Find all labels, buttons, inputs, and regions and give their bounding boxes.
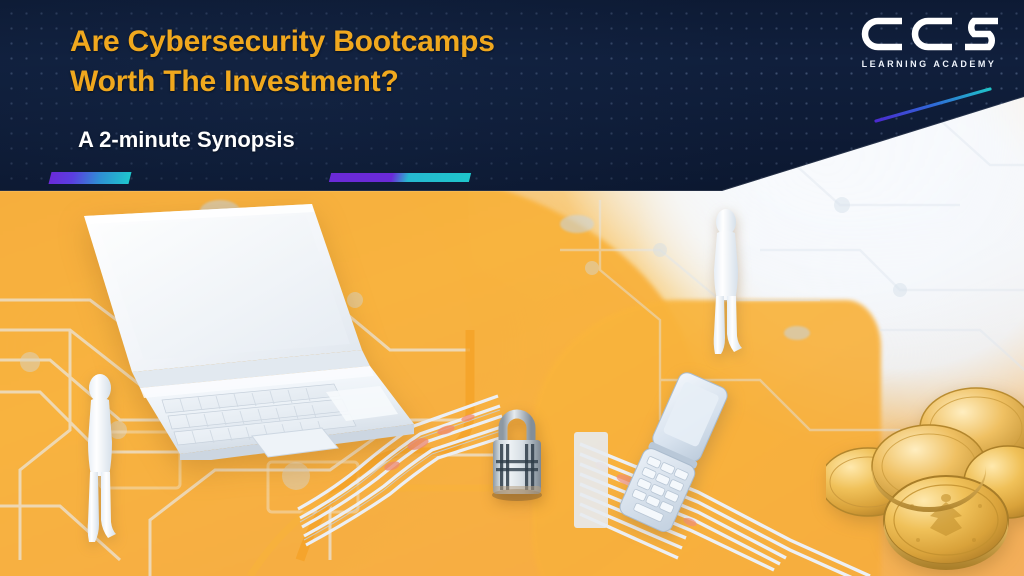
padlock-icon: [487, 400, 547, 502]
ccs-logo-tagline: LEARNING ACADEMY: [856, 59, 1002, 69]
figurine-right: [702, 208, 748, 358]
ccs-logo[interactable]: LEARNING ACADEMY: [856, 12, 1002, 69]
page-title: Are Cybersecurity Bootcamps Worth The In…: [70, 22, 710, 102]
ccs-logo-mark: [856, 12, 1002, 56]
page-subtitle: A 2-minute Synopsis: [78, 126, 295, 154]
infographic-banner: Are Cybersecurity Bootcamps Worth The In…: [0, 0, 1024, 576]
title-line-1: Are Cybersecurity Bootcamps: [70, 25, 495, 58]
gold-coins: [826, 370, 1024, 570]
title-line-2: Worth The Investment?: [70, 62, 710, 102]
accent-bar-secondary: [329, 173, 471, 182]
board-pad: [560, 215, 594, 233]
flip-phone: [610, 368, 740, 538]
figurine-left: [78, 372, 122, 552]
accent-bar-primary: [49, 172, 132, 184]
board-pad: [784, 326, 810, 340]
